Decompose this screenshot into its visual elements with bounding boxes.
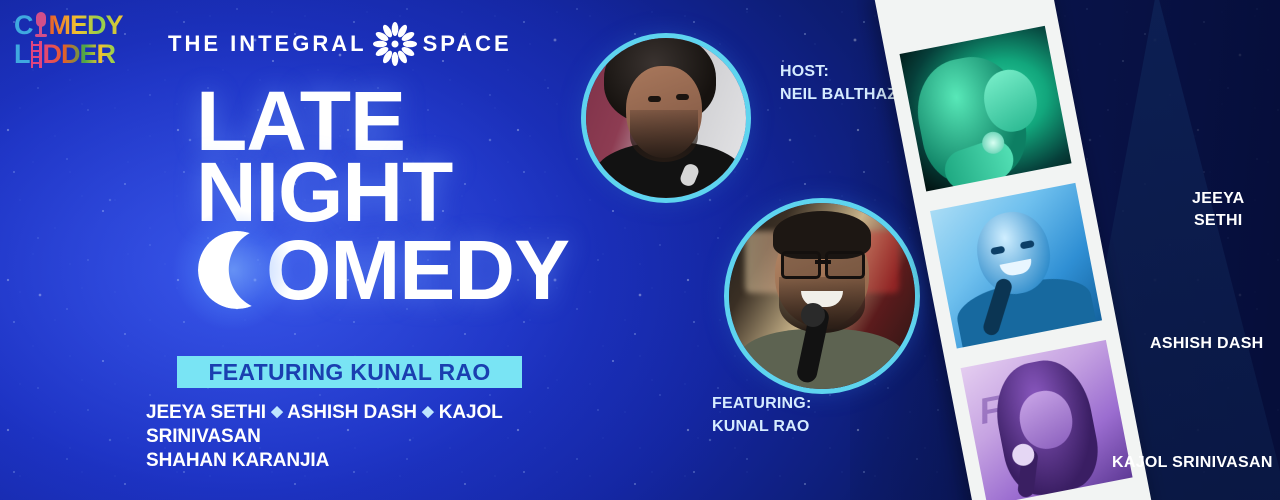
featuring-banner: FEATURING KUNAL RAO (177, 356, 522, 388)
lineup-names: JEEYA SETHI ◆ ASHISH DASH ◆ KAJOL SRINIV… (146, 401, 596, 473)
crescent-moon-icon (196, 227, 268, 313)
jeeya-sethi-photo (900, 26, 1072, 192)
featuring-label: FEATURING: KUNAL RAO (712, 392, 811, 438)
comedy-ladder-line-2: L DDER (14, 41, 134, 68)
kajol-srinivasan-photo: Fa alo (961, 340, 1133, 500)
microphone-icon (33, 12, 49, 39)
cl-word-dder: DDER (43, 41, 116, 68)
separator-diamond-icon: ◆ (271, 403, 282, 420)
integral-space-left-text: THE INTEGRAL (168, 31, 367, 57)
filmstrip-label-jeeya: JEEYA SETHI (1192, 188, 1245, 231)
separator-diamond-icon-2: ◆ (422, 403, 433, 420)
lineup-row-1: JEEYA SETHI ◆ ASHISH DASH ◆ KAJOL SRINIV… (146, 401, 596, 449)
comedy-ladder-logo[interactable]: C MEDY L DDER (14, 12, 134, 72)
ladder-icon (30, 41, 43, 68)
filmstrip-frame-kajol: Fa alo (961, 340, 1133, 500)
featuring-banner-text: FEATURING KUNAL RAO (208, 359, 490, 386)
page-title: LATE NIGHT OMEDY (196, 86, 616, 313)
ashish-dash-photo (930, 183, 1102, 349)
integral-space-logo[interactable]: THE INTEGRAL SPACE (168, 22, 512, 66)
featuring-portrait-circle (724, 198, 920, 394)
title-comedy-rest: OMEDY (266, 235, 569, 306)
lineup-name-jeeya: JEEYA SETHI (146, 402, 266, 423)
lineup-name-ashish: ASHISH DASH (287, 402, 417, 423)
title-line-comedy: OMEDY (196, 227, 616, 313)
jeeya-name-line-2: SETHI (1192, 210, 1245, 232)
mandala-flower-icon (373, 22, 417, 66)
featuring-role-text: FEATURING: (712, 392, 811, 415)
comedy-ladder-line-1: C MEDY (14, 12, 134, 39)
neil-balthazar-photo (586, 38, 746, 198)
filmstrip-frame-jeeya (900, 26, 1072, 192)
filmstrip-label-kajol: KAJOL SRINIVASAN (1112, 452, 1273, 474)
host-portrait-circle (581, 33, 751, 203)
integral-space-right-text: SPACE (423, 31, 512, 57)
lineup-row-2: SHAHAN KARANJIA (146, 449, 596, 473)
filmstrip-label-ashish: ASHISH DASH (1150, 333, 1264, 355)
filmstrip: Fa alo (873, 0, 1153, 500)
filmstrip-frame-ashish (930, 183, 1102, 349)
cl-word-medy: MEDY (49, 12, 123, 39)
cl-letter-l: L (14, 41, 30, 68)
kunal-rao-photo (729, 203, 915, 389)
featuring-name-text: KUNAL RAO (712, 415, 811, 438)
poster-canvas: C MEDY L DDER THE INTEGRAL (0, 0, 1280, 500)
jeeya-name-line-1: JEEYA (1192, 188, 1245, 210)
cl-letter-c: C (14, 12, 33, 39)
